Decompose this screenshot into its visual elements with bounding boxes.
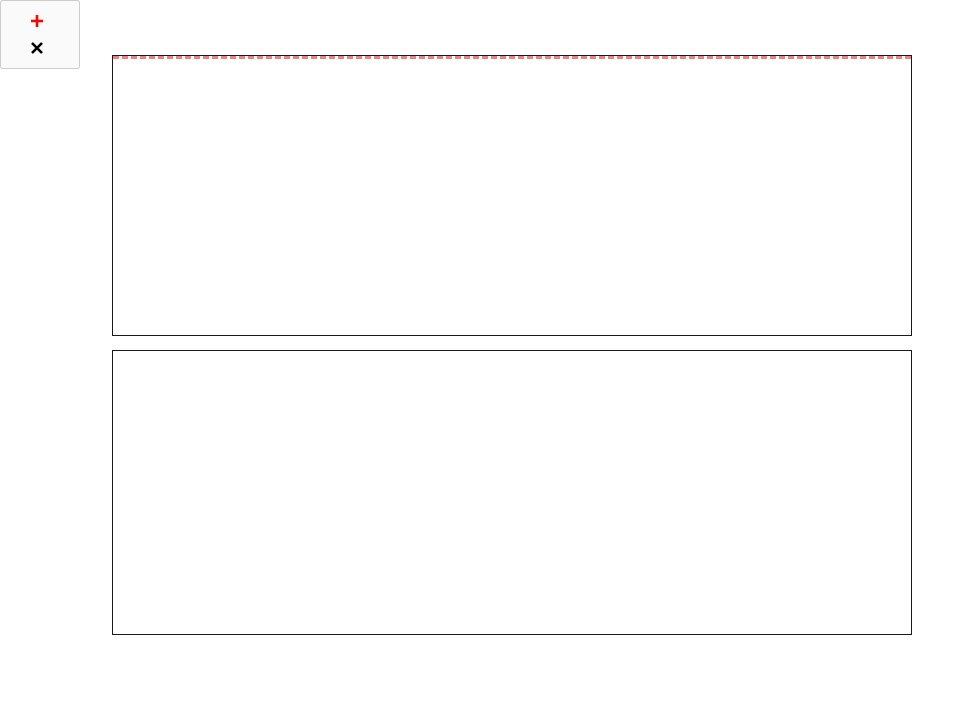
matched-stars-plus-icon xyxy=(11,12,63,30)
predicted-stars-cross-icon xyxy=(11,39,63,57)
figure-canvas xyxy=(0,0,960,720)
legend-item-matched-stars[interactable] xyxy=(11,7,67,34)
top-panel-axes xyxy=(112,55,912,336)
bottom-panel-legend xyxy=(0,0,80,69)
bottom-panel-plot-area xyxy=(113,351,911,634)
threshold-line xyxy=(113,56,911,59)
bottom-panel-axes xyxy=(112,350,912,635)
legend-item-predicted-stars[interactable] xyxy=(11,34,67,61)
top-panel-plot-area xyxy=(113,56,911,335)
